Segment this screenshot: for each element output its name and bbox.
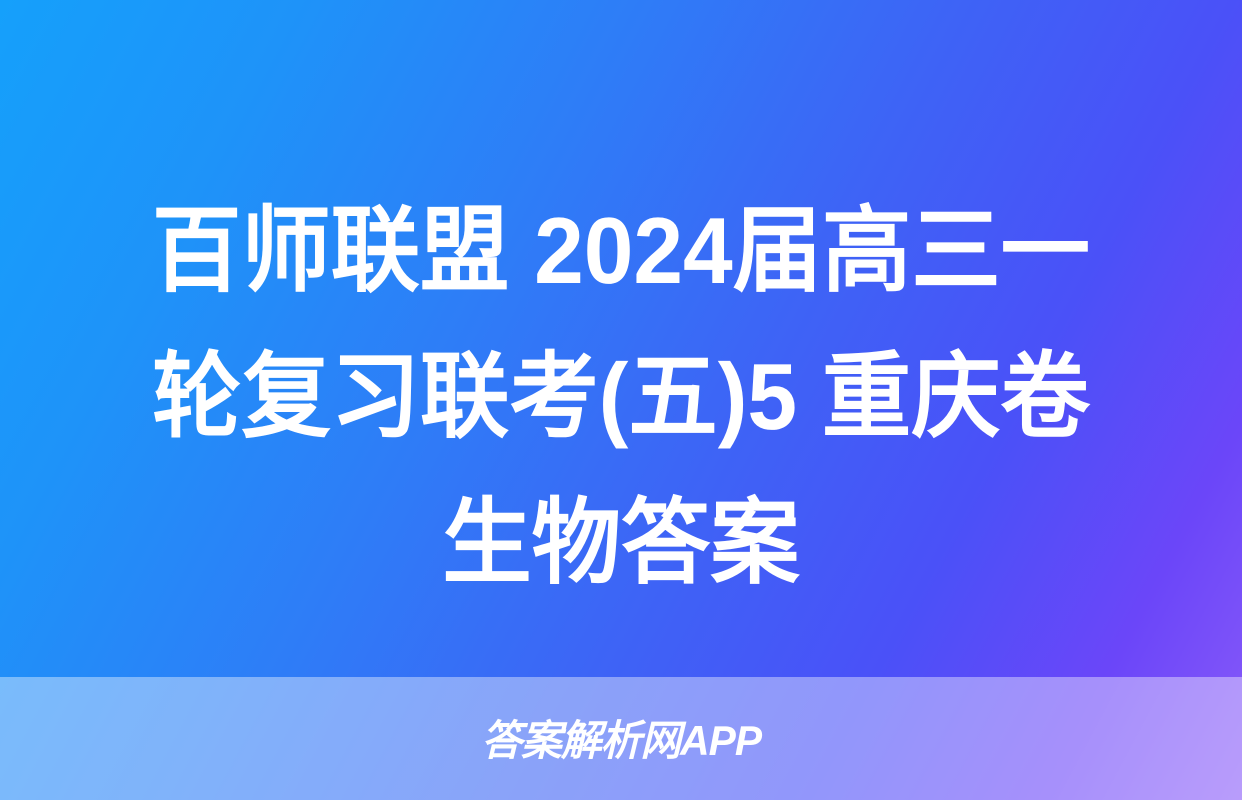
title-line-2: 轮复习联考(五)5 重庆卷 bbox=[65, 324, 1177, 470]
promo-banner: 百师联盟 2024届高三一 轮复习联考(五)5 重庆卷 生物答案 答案解析网AP… bbox=[0, 0, 1242, 800]
title-line-1: 百师联盟 2024届高三一 bbox=[65, 178, 1177, 324]
page-title: 百师联盟 2024届高三一 轮复习联考(五)5 重庆卷 生物答案 bbox=[0, 178, 1242, 616]
title-line-3: 生物答案 bbox=[65, 470, 1177, 616]
footer-band: 答案解析网APP bbox=[0, 677, 1242, 800]
app-watermark-label: 答案解析网APP bbox=[481, 720, 761, 762]
